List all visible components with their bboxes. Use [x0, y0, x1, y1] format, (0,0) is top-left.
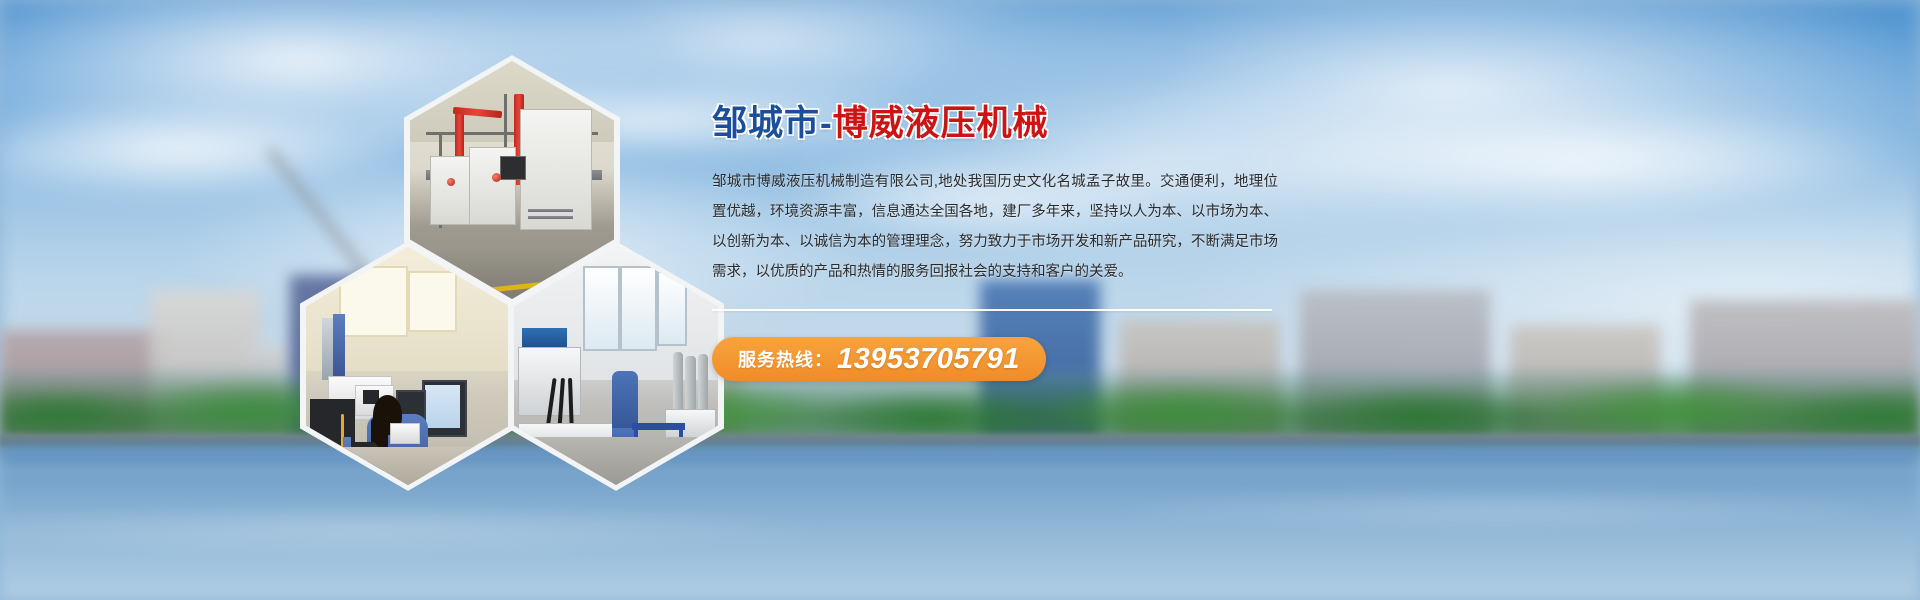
hotline-number: 13953705791 — [837, 343, 1020, 376]
hexagon-photo-gallery — [300, 55, 720, 455]
water-reflection-layer — [0, 470, 1920, 580]
title-prefix: 邹城市- — [712, 104, 833, 143]
section-divider — [712, 309, 1272, 311]
hotline-label: 服务热线： — [738, 346, 833, 372]
title-brand: 博威液压机械 — [833, 104, 1049, 143]
page-title: 邹城市-博威液压机械 — [712, 104, 1292, 143]
hotline-button[interactable]: 服务热线： 13953705791 — [712, 337, 1046, 381]
hero-text-column: 邹城市-博威液压机械 邹城市博威液压机械制造有限公司,地处我国历史文化名城孟子故… — [712, 104, 1292, 381]
company-description: 邹城市博威液压机械制造有限公司,地处我国历史文化名城孟子故里。交通便利，地理位置… — [712, 167, 1278, 287]
company-hero-banner: 邹城市-博威液压机械 邹城市博威液压机械制造有限公司,地处我国历史文化名城孟子故… — [0, 0, 1920, 600]
